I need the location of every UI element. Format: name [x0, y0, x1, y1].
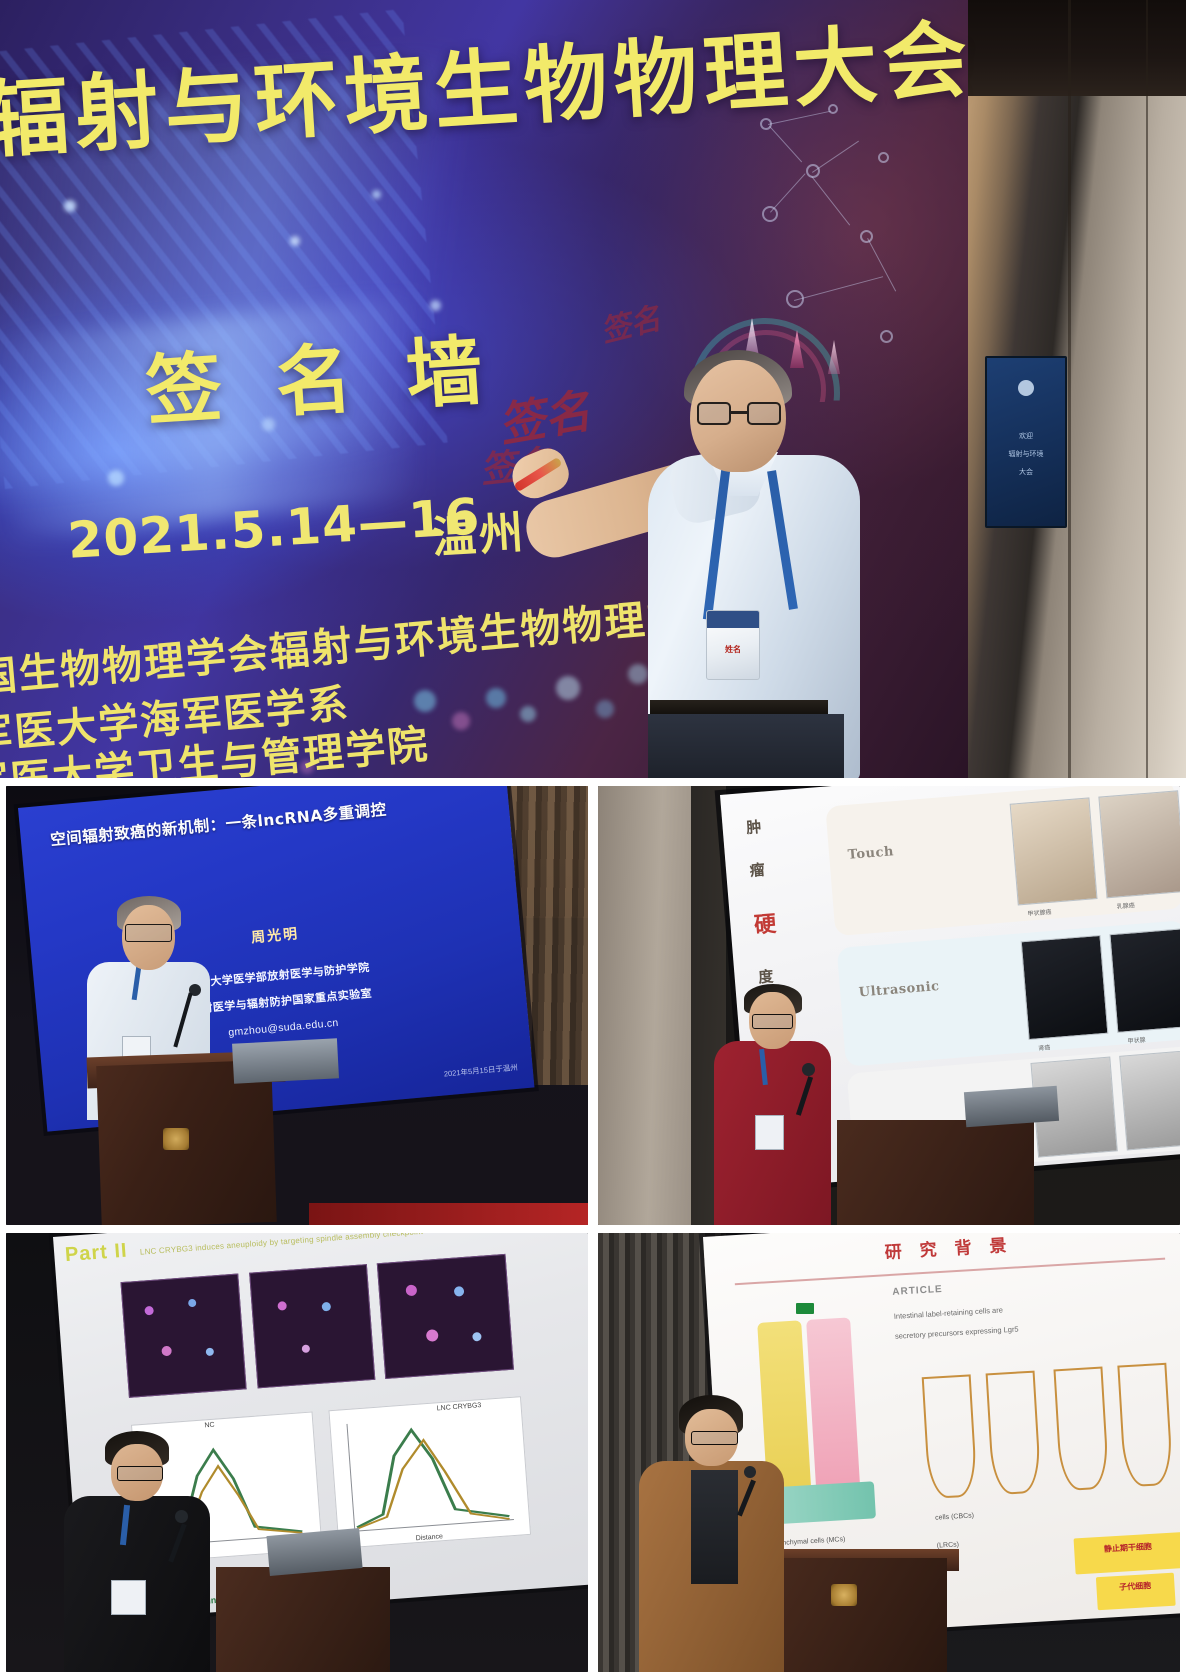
- microphone-head-icon: [744, 1466, 756, 1478]
- microphone-head-icon: [802, 1063, 815, 1076]
- slide-photo-thumb: [1099, 790, 1180, 899]
- slide-article-line-1: Intestinal label-retaining cells are: [893, 1305, 1003, 1323]
- network-link: [867, 238, 896, 291]
- photo-lecture-partii: Part II LNC CRYBG3 induces aneuploidy by…: [6, 1233, 588, 1672]
- line-chart-panel: LNC CRYBG3 Distance: [328, 1397, 530, 1550]
- slide-part-label: Part II: [64, 1240, 128, 1268]
- bokeh-light: [108, 470, 124, 486]
- network-node-icon: [860, 230, 873, 243]
- wall-display-screen: 欢迎 辐射与环境 大会: [985, 356, 1067, 528]
- plot-label-nc: NC: [204, 1422, 215, 1430]
- callout-box-2: 静止期干细胞: [1073, 1533, 1180, 1576]
- lens-right: [747, 402, 781, 425]
- slide-article-line-2: secretory precursors expressing Lgr5: [894, 1324, 1018, 1343]
- photo-lecture-ultrasound: 肿 瘤 硬 度 Touch Ultrasonic 甲状腺癌: [598, 786, 1180, 1225]
- podium-emblem-icon: [163, 1128, 189, 1150]
- photo-row-top: 空间辐射致癌的新机制：一条lncRNA多重调控 周光明 苏州大学医学部放射医学与…: [6, 786, 1180, 1225]
- display-logo-icon: [1018, 380, 1034, 396]
- eyeglasses-icon: [125, 924, 172, 942]
- crypt-diagram-icon: [1117, 1364, 1173, 1488]
- diagram-label-cbcs: cells (CBCs): [935, 1513, 974, 1522]
- badge-name: 姓名: [707, 644, 759, 655]
- network-node-icon: [880, 330, 893, 343]
- slide-char-1: 肿: [746, 815, 763, 837]
- micrograph-panel: [120, 1274, 246, 1398]
- eyeglasses-icon: [117, 1466, 164, 1481]
- plot-axis-x: Distance: [415, 1534, 443, 1543]
- eyeglasses-icon: [697, 402, 781, 426]
- network-node-icon: [762, 206, 778, 222]
- exit-sign-icon: [796, 1303, 814, 1314]
- podium-emblem-icon: [831, 1584, 857, 1606]
- stage-red-strip: [309, 1203, 588, 1225]
- slide-article-label: ARTICLE: [892, 1284, 943, 1298]
- slide-ultrasound-thumb: [1110, 927, 1180, 1032]
- laptop: [964, 1086, 1059, 1128]
- side-wall: [598, 786, 691, 1225]
- photo-lecture-lncrna: 空间辐射致癌的新机制：一条lncRNA多重调控 周光明 苏州大学医学部放射医学与…: [6, 786, 588, 1225]
- slide-datestamp: 2021年5月15日于温州: [443, 1061, 518, 1079]
- thumb-caption: 乳腺癌: [1117, 900, 1136, 910]
- callout-text-2: 静止期干细胞: [1074, 1539, 1180, 1556]
- thumb-caption: 甲状腺: [1127, 1034, 1146, 1044]
- inner-shirt: [691, 1470, 738, 1584]
- microphone-head-icon: [175, 1510, 188, 1523]
- bokeh-light: [556, 676, 580, 700]
- network-link: [769, 126, 802, 162]
- diagram-column-pink: [806, 1318, 861, 1506]
- photo-row-bottom: Part II LNC CRYBG3 induces aneuploidy by…: [6, 1233, 1180, 1672]
- eyeglasses-icon: [691, 1431, 738, 1445]
- podium: [761, 1558, 947, 1672]
- bokeh-light: [290, 236, 300, 246]
- network-link: [770, 173, 806, 212]
- photo-grid: 空间辐射致癌的新机制：一条lncRNA多重调控 周光明 苏州大学医学部放射医学与…: [0, 778, 1186, 1678]
- banner-city: 温州: [430, 496, 528, 565]
- slide-title: 研 究 背 景: [703, 1233, 1180, 1274]
- laptop: [232, 1038, 339, 1083]
- thumb-caption: 肾癌: [1038, 1042, 1051, 1052]
- trousers: [648, 714, 844, 778]
- slide-xray-thumb: [1120, 1050, 1180, 1151]
- display-line-2: 辐射与环境: [987, 450, 1065, 461]
- crypt-diagram-icon: [922, 1375, 978, 1499]
- slide-photo-thumb: [1009, 797, 1097, 906]
- crypt-diagram-icon: [985, 1371, 1041, 1495]
- photo-lecture-background: 研 究 背 景 ARTICLE Intestinal label-retaini…: [598, 1233, 1180, 1672]
- bokeh-light: [64, 200, 76, 212]
- slide-char-3: 硬: [753, 905, 778, 939]
- photo-signature-wall: 欢迎 辐射与环境 大会: [0, 0, 1186, 778]
- badge-header: [707, 611, 759, 628]
- display-line-1: 欢迎: [987, 432, 1065, 443]
- bokeh-light: [430, 300, 441, 311]
- wall-seam: [1068, 0, 1071, 778]
- callout-box-3: 子代细胞: [1095, 1574, 1175, 1611]
- bokeh-light: [520, 706, 536, 722]
- slide-ultrasound-thumb: [1020, 935, 1108, 1040]
- network-link: [812, 141, 859, 173]
- conference-badge: [755, 1115, 784, 1150]
- thumb-caption: 甲状腺癌: [1027, 907, 1052, 918]
- conference-badge: 姓名: [706, 610, 760, 680]
- podium: [837, 1120, 1035, 1225]
- lens-left: [697, 402, 731, 425]
- micrograph-panel: [377, 1255, 514, 1380]
- micrograph-panel: [248, 1265, 374, 1389]
- bokeh-light: [452, 712, 470, 730]
- bokeh-light: [596, 700, 614, 718]
- slide-subtitle: LNC CRYBG3 induces aneuploidy by targeti…: [139, 1233, 423, 1257]
- wall-seam: [1146, 0, 1148, 778]
- bokeh-light: [486, 688, 506, 708]
- bokeh-light: [372, 190, 381, 199]
- bokeh-light: [414, 690, 436, 712]
- network-link: [794, 276, 883, 301]
- conference-badge: [111, 1580, 146, 1615]
- glasses-bridge: [731, 411, 747, 414]
- bokeh-light: [628, 664, 648, 684]
- laptop: [266, 1528, 362, 1575]
- podium: [216, 1567, 391, 1672]
- eyeglasses-icon: [752, 1014, 793, 1029]
- callout-text-3: 子代细胞: [1095, 1579, 1174, 1595]
- network-link: [811, 176, 850, 225]
- banner-subtitle: 签 名 墙: [142, 308, 499, 440]
- crypt-diagram-icon: [1053, 1367, 1109, 1491]
- photo-collage: 欢迎 辐射与环境 大会: [0, 0, 1186, 1678]
- slide-char-2: 瘤: [749, 859, 766, 881]
- display-line-3: 大会: [987, 468, 1065, 479]
- network-node-icon: [878, 152, 889, 163]
